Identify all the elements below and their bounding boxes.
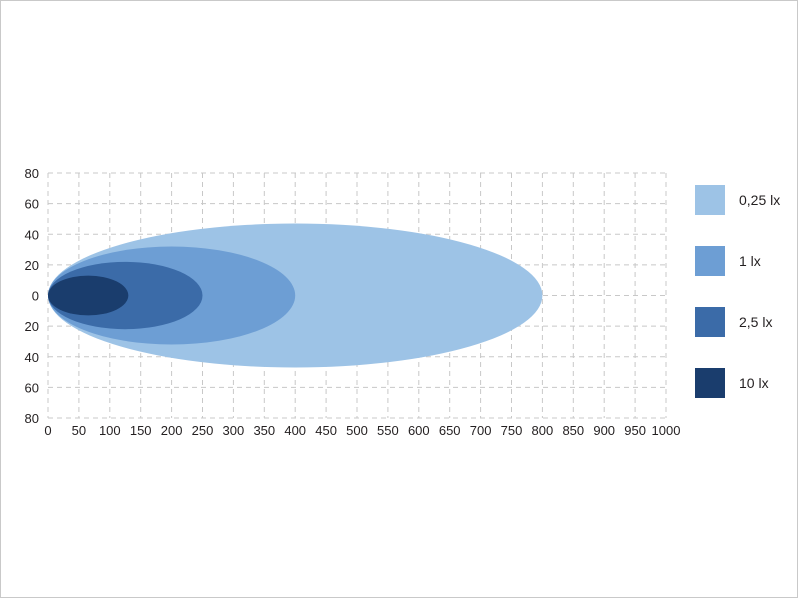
legend-label: 1 lx (739, 253, 761, 269)
legend-label: 0,25 lx (739, 192, 780, 208)
isolux-band (48, 276, 128, 316)
x-tick-label: 1000 (652, 423, 681, 438)
chart-frame: 80604020020406080 0501001502002503003504… (0, 0, 798, 598)
x-tick-label: 750 (501, 423, 523, 438)
legend-label: 2,5 lx (739, 314, 772, 330)
x-tick-label: 450 (315, 423, 337, 438)
legend-item: 2,5 lx (695, 307, 772, 337)
y-tick-label: 0 (32, 289, 39, 304)
y-tick-label: 80 (25, 411, 39, 426)
x-tick-label: 700 (470, 423, 492, 438)
x-tick-label: 800 (532, 423, 554, 438)
legend-color-swatch (695, 185, 725, 215)
y-tick-label: 20 (25, 258, 39, 273)
x-tick-label: 200 (161, 423, 183, 438)
isolux-bands (48, 224, 542, 368)
x-axis-labels: 0501001502002503003504004505005506006507… (44, 423, 680, 438)
x-tick-label: 400 (284, 423, 306, 438)
legend-label: 10 lx (739, 375, 769, 391)
legend-item: 1 lx (695, 246, 761, 276)
x-tick-label: 850 (562, 423, 584, 438)
legend-color-swatch (695, 307, 725, 337)
x-tick-label: 300 (223, 423, 245, 438)
x-tick-label: 600 (408, 423, 430, 438)
isolux-chart: 80604020020406080 0501001502002503003504… (1, 1, 799, 599)
x-tick-label: 350 (253, 423, 275, 438)
x-tick-label: 250 (192, 423, 214, 438)
y-axis-labels: 80604020020406080 (25, 166, 39, 426)
y-tick-label: 40 (25, 227, 39, 242)
plot-svg: 80604020020406080 0501001502002503003504… (1, 1, 799, 599)
x-tick-label: 0 (44, 423, 51, 438)
x-tick-label: 950 (624, 423, 646, 438)
x-tick-label: 150 (130, 423, 152, 438)
legend-color-swatch (695, 368, 725, 398)
y-tick-label: 40 (25, 350, 39, 365)
x-tick-label: 100 (99, 423, 121, 438)
x-tick-label: 650 (439, 423, 461, 438)
legend-item: 0,25 lx (695, 185, 780, 215)
y-tick-label: 80 (25, 166, 39, 181)
y-tick-label: 60 (25, 380, 39, 395)
y-tick-label: 60 (25, 197, 39, 212)
x-tick-label: 900 (593, 423, 615, 438)
x-tick-label: 550 (377, 423, 399, 438)
x-tick-label: 500 (346, 423, 368, 438)
x-tick-label: 50 (72, 423, 86, 438)
legend-color-swatch (695, 246, 725, 276)
legend: 0,25 lx1 lx2,5 lx10 lx (695, 173, 795, 423)
legend-item: 10 lx (695, 368, 769, 398)
y-tick-label: 20 (25, 319, 39, 334)
